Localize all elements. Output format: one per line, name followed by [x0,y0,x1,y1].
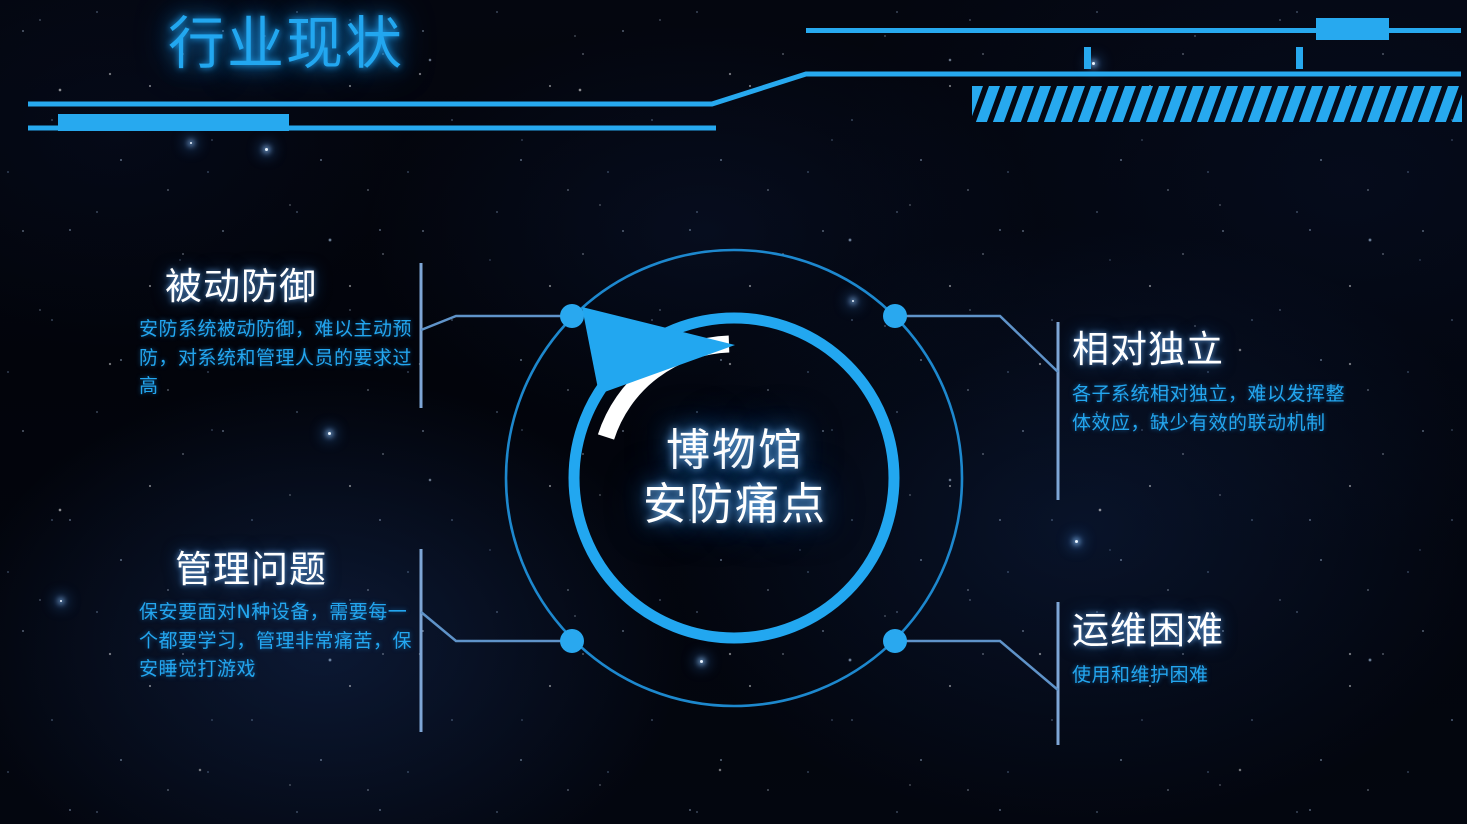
callout-body: 保安要面对N种设备，需要每一个都要学习，管理非常痛苦，保安睡觉打游戏 [139,598,424,685]
callout-body: 各子系统相对独立，难以发挥整体效应，缺少有效的联动机制 [1072,380,1362,438]
presentation-slide: 行业现状 [0,0,1467,824]
ring-node-bottom-right[interactable] [883,629,907,653]
callout-title: 运维困难 [1072,609,1362,653]
callout-management-problem[interactable]: 管理问题 保安要面对N种设备，需要每一个都要学习，管理非常痛苦，保安睡觉打游戏 [139,548,424,684]
ring-node-top-right[interactable] [883,304,907,328]
callout-passive-defense[interactable]: 被动防御 安防系统被动防御，难以主动预防，对系统和管理人员的要求过高 [139,265,424,401]
ring-node-top-left[interactable] [560,304,584,328]
connector-line-right-top [905,316,1058,372]
callout-relative-independence[interactable]: 相对独立 各子系统相对独立，难以发挥整体效应，缺少有效的联动机制 [1072,328,1362,437]
callout-title: 被动防御 [139,265,424,309]
center-label-line2: 安防痛点 [592,478,878,532]
connector-line-left-bottom [421,612,562,641]
center-label: 博物馆 安防痛点 [592,424,878,531]
callout-title: 相对独立 [1072,328,1362,372]
connector-line-right-bottom [905,641,1058,690]
callout-ops-difficulty[interactable]: 运维困难 使用和维护困难 [1072,609,1362,690]
connector-line-left-top [421,316,562,330]
center-label-line1: 博物馆 [592,424,878,478]
callout-body: 使用和维护困难 [1072,661,1362,690]
ring-node-bottom-left[interactable] [560,629,584,653]
callout-body: 安防系统被动防御，难以主动预防，对系统和管理人员的要求过高 [139,315,424,402]
callout-title: 管理问题 [139,548,424,592]
